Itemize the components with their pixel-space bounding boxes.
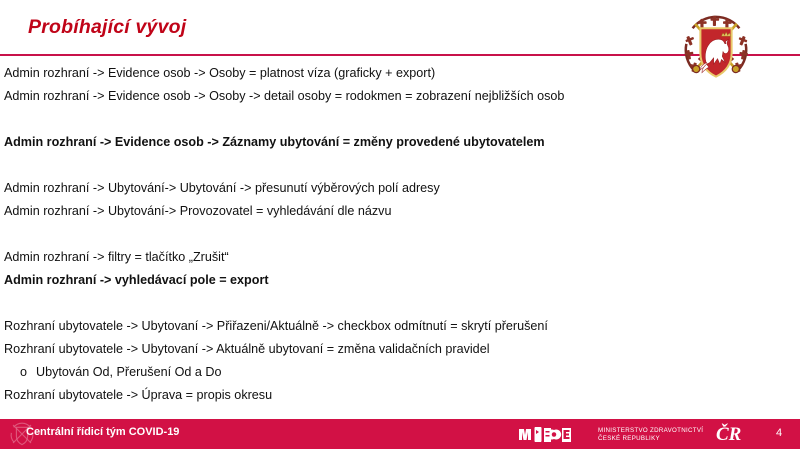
slide-body: Admin rozhraní -> Evidence osob -> Osoby…	[4, 62, 794, 407]
ministry-health-logo-icon	[518, 425, 592, 444]
paragraph-spacer	[4, 223, 794, 246]
paragraph-spacer	[4, 292, 794, 315]
slide: Probíhající vývoj	[0, 0, 800, 449]
slide-footer: Centrální řídicí tým COVID-19	[0, 419, 800, 449]
ministry-name: MINISTERSTVO ZDRAVOTNICTVÍ ČESKÉ REPUBLI…	[598, 427, 703, 444]
paragraph-spacer	[4, 154, 794, 177]
cr-monogram: ČR	[716, 424, 741, 446]
body-line: Admin rozhraní -> Evidence osob -> Osoby…	[4, 62, 794, 85]
paragraph-spacer	[4, 108, 794, 131]
list-item-label: Ubytován Od, Přerušení Od a Do	[36, 365, 222, 379]
page-number: 4	[776, 427, 782, 439]
ministry-name-line1: MINISTERSTVO ZDRAVOTNICTVÍ	[598, 427, 703, 435]
body-line: Rozhraní ubytovatele -> Úprava = propis …	[4, 384, 794, 407]
ministry-name-line2: ČESKÉ REPUBLIKY	[598, 435, 703, 443]
page-title: Probíhající vývoj	[28, 16, 186, 39]
body-line: Admin rozhraní -> Ubytování-> Provozovat…	[4, 200, 794, 223]
body-line: Admin rozhraní -> Evidence osob -> Osoby…	[4, 85, 794, 108]
bullet-marker-icon: o	[20, 361, 27, 384]
footer-title: Centrální řídicí tým COVID-19	[26, 426, 179, 438]
body-line: Admin rozhraní -> Ubytování-> Ubytování …	[4, 177, 794, 200]
body-line: Admin rozhraní -> Evidence osob -> Zázna…	[4, 131, 794, 154]
body-line: Rozhraní ubytovatele -> Ubytovaní -> Při…	[4, 315, 794, 338]
body-line: Admin rozhraní -> vyhledávací pole = exp…	[4, 269, 794, 292]
list-item: oUbytován Od, Přerušení Od a Do	[4, 361, 794, 384]
body-line: Rozhraní ubytovatele -> Ubytovaní -> Akt…	[4, 338, 794, 361]
body-line: Admin rozhraní -> filtry = tlačítko „Zru…	[4, 246, 794, 269]
